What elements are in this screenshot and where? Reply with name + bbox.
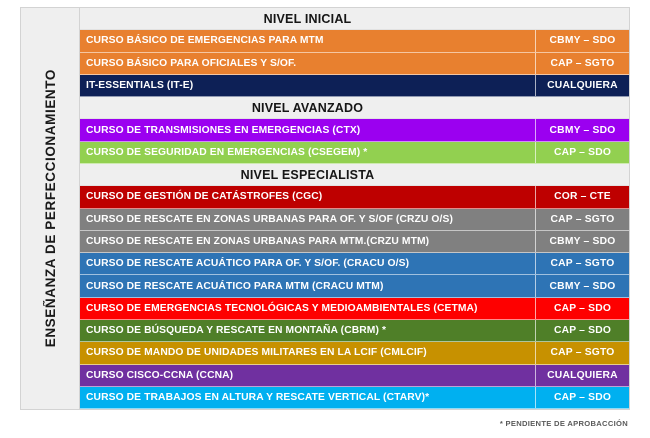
course-row[interactable]: CURSO DE RESCATE ACUÁTICO PARA MTM (CRAC…: [80, 275, 629, 297]
course-rank-range: CAP – SDO: [535, 320, 629, 341]
course-row[interactable]: CURSO CISCO-CCNA (CCNA)CUALQUIERA: [80, 365, 629, 387]
course-name: CURSO DE SEGURIDAD EN EMERGENCIAS (CSEGE…: [80, 142, 535, 163]
course-rank-range: CAP – SGTO: [535, 209, 629, 230]
course-rank-range: CBMY – SDO: [535, 275, 629, 296]
section-header-title: NIVEL INICIAL: [80, 8, 535, 29]
course-name: CURSO BÁSICO PARA OFICIALES Y S/OF.: [80, 53, 535, 74]
course-name: CURSO DE GESTIÓN DE CATÁSTROFES (CGC): [80, 186, 535, 207]
course-name: CURSO DE TRABAJOS EN ALTURA Y RESCATE VE…: [80, 387, 535, 408]
course-name: CURSO DE TRANSMISIONES EN EMERGENCIAS (C…: [80, 119, 535, 140]
course-row[interactable]: CURSO BÁSICO DE EMERGENCIAS PARA MTMCBMY…: [80, 30, 629, 52]
course-row[interactable]: CURSO DE RESCATE EN ZONAS URBANAS PARA M…: [80, 231, 629, 253]
section-header-rank-spacer: [535, 8, 629, 29]
vertical-category-label: ENSEÑANZA DE PERFECCIONAMIENTO: [21, 8, 80, 409]
course-name: IT-ESSENTIALS (IT-E): [80, 75, 535, 96]
course-row[interactable]: CURSO BÁSICO PARA OFICIALES Y S/OF.CAP –…: [80, 53, 629, 75]
footnote-pending-approval: * PENDIENTE DE APROBACCIÓN: [500, 419, 628, 428]
course-rank-range: CBMY – SDO: [535, 30, 629, 51]
course-rank-range: CAP – SGTO: [535, 342, 629, 363]
course-name: CURSO CISCO-CCNA (CCNA): [80, 365, 535, 386]
course-name: CURSO DE RESCATE ACUÁTICO PARA MTM (CRAC…: [80, 275, 535, 296]
course-row[interactable]: CURSO DE MANDO DE UNIDADES MILITARES EN …: [80, 342, 629, 364]
course-rank-range: CBMY – SDO: [535, 231, 629, 252]
course-row[interactable]: CURSO DE SEGURIDAD EN EMERGENCIAS (CSEGE…: [80, 142, 629, 164]
course-name: CURSO DE RESCATE EN ZONAS URBANAS PARA O…: [80, 209, 535, 230]
course-catalog-page: ENSEÑANZA DE PERFECCIONAMIENTO NIVEL INI…: [0, 0, 650, 438]
course-name: CURSO DE MANDO DE UNIDADES MILITARES EN …: [80, 342, 535, 363]
section-header-row: NIVEL ESPECIALISTA: [80, 164, 629, 186]
section-header-row: NIVEL AVANZADO: [80, 97, 629, 119]
section-header-title: NIVEL AVANZADO: [80, 97, 535, 118]
course-row[interactable]: CURSO DE TRABAJOS EN ALTURA Y RESCATE VE…: [80, 387, 629, 409]
course-rank-range: CAP – SDO: [535, 142, 629, 163]
course-row[interactable]: CURSO DE BÚSQUEDA Y RESCATE EN MONTAÑA (…: [80, 320, 629, 342]
course-row[interactable]: CURSO DE EMERGENCIAS TECNOLÓGICAS Y MEDI…: [80, 298, 629, 320]
course-row[interactable]: IT-ESSENTIALS (IT-E)CUALQUIERA: [80, 75, 629, 97]
course-row[interactable]: CURSO DE RESCATE ACUÁTICO PARA OF. Y S/O…: [80, 253, 629, 275]
course-name: CURSO BÁSICO DE EMERGENCIAS PARA MTM: [80, 30, 535, 51]
course-rank-range: CBMY – SDO: [535, 119, 629, 140]
course-name: CURSO DE RESCATE EN ZONAS URBANAS PARA M…: [80, 231, 535, 252]
course-row[interactable]: CURSO DE TRANSMISIONES EN EMERGENCIAS (C…: [80, 119, 629, 141]
course-rank-range: CAP – SGTO: [535, 53, 629, 74]
courses-rows-container: NIVEL INICIALCURSO BÁSICO DE EMERGENCIAS…: [80, 8, 629, 409]
course-rank-range: CUALQUIERA: [535, 75, 629, 96]
course-row[interactable]: CURSO DE GESTIÓN DE CATÁSTROFES (CGC)COR…: [80, 186, 629, 208]
course-rank-range: CAP – SDO: [535, 298, 629, 319]
section-header-rank-spacer: [535, 164, 629, 185]
course-name: CURSO DE BÚSQUEDA Y RESCATE EN MONTAÑA (…: [80, 320, 535, 341]
course-rank-range: COR – CTE: [535, 186, 629, 207]
section-header-rank-spacer: [535, 97, 629, 118]
course-name: CURSO DE EMERGENCIAS TECNOLÓGICAS Y MEDI…: [80, 298, 535, 319]
section-header-row: NIVEL INICIAL: [80, 8, 629, 30]
section-header-title: NIVEL ESPECIALISTA: [80, 164, 535, 185]
course-rank-range: CUALQUIERA: [535, 365, 629, 386]
course-name: CURSO DE RESCATE ACUÁTICO PARA OF. Y S/O…: [80, 253, 535, 274]
course-rank-range: CAP – SDO: [535, 387, 629, 408]
courses-table: ENSEÑANZA DE PERFECCIONAMIENTO NIVEL INI…: [20, 7, 630, 410]
course-rank-range: CAP – SGTO: [535, 253, 629, 274]
course-row[interactable]: CURSO DE RESCATE EN ZONAS URBANAS PARA O…: [80, 209, 629, 231]
vertical-category-label-text: ENSEÑANZA DE PERFECCIONAMIENTO: [43, 69, 58, 347]
